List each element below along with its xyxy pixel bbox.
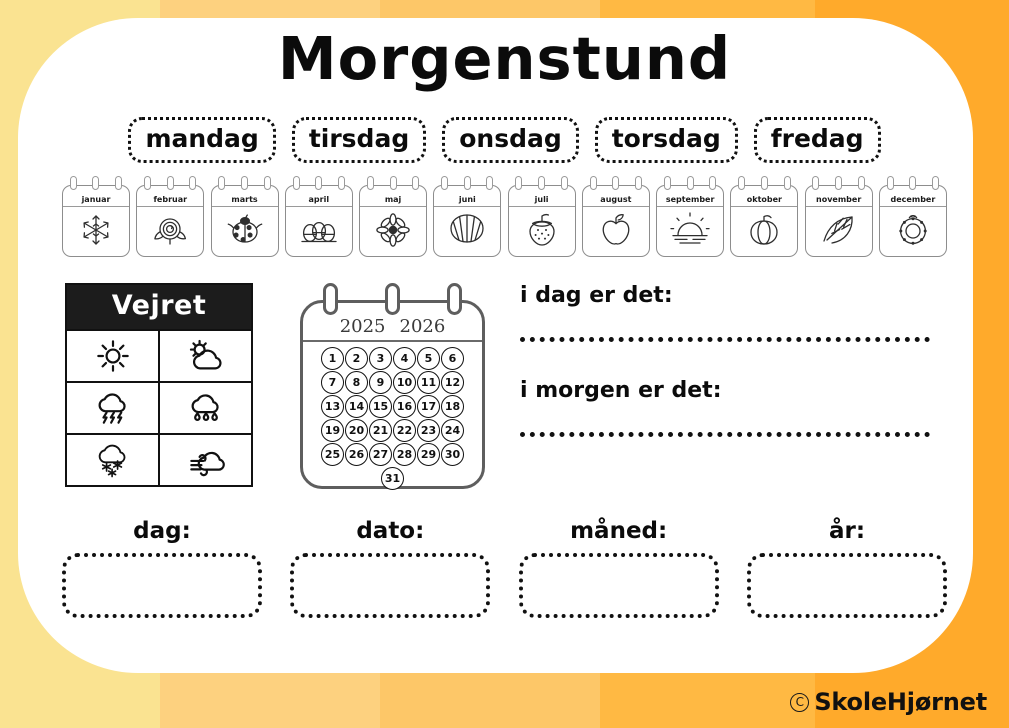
prompt-section: i dag er det:i morgen er det: xyxy=(520,283,930,473)
spiral-ring xyxy=(784,176,791,190)
answer-year-label: år: xyxy=(747,518,947,544)
month-body: august xyxy=(582,185,650,257)
weekday-onsdag[interactable]: onsdag xyxy=(442,117,579,163)
spiral-ring xyxy=(909,176,916,190)
calendar-day-1[interactable]: 1 xyxy=(321,347,344,370)
copyright-icon: C xyxy=(790,693,809,712)
month-card-oktober[interactable]: oktober xyxy=(730,176,798,257)
rose-icon xyxy=(137,207,203,253)
ladybug-icon xyxy=(212,207,278,253)
calendar-rings xyxy=(300,283,485,317)
date-calendar: 20252026 1234567891011121314151617181920… xyxy=(300,283,485,489)
spiral-ring xyxy=(812,176,819,190)
leaf-icon xyxy=(806,207,872,253)
weather-rows xyxy=(67,329,251,485)
spiral-ring xyxy=(144,176,151,190)
spiral-ring xyxy=(390,176,397,190)
answer-date-box[interactable] xyxy=(290,553,490,618)
spiral-ring xyxy=(561,176,568,190)
month-rings xyxy=(879,176,947,192)
month-card-april[interactable]: april xyxy=(285,176,353,257)
month-card-februar[interactable]: februar xyxy=(136,176,204,257)
weather-rainy[interactable] xyxy=(158,383,251,433)
snowflake-icon xyxy=(63,207,129,253)
weather-sunny[interactable] xyxy=(67,331,158,381)
weather-snowy[interactable] xyxy=(67,435,158,485)
prompt-tomorrow-writing-line[interactable] xyxy=(520,432,930,437)
month-card-januar[interactable]: januar xyxy=(62,176,130,257)
month-body: januar xyxy=(62,185,130,257)
calendar-day-4[interactable]: 4 xyxy=(393,347,416,370)
weather-windy[interactable] xyxy=(158,435,251,485)
strawberry-icon xyxy=(509,207,575,253)
brand-name: SkoleHjørnet xyxy=(814,688,987,716)
month-body: marts xyxy=(211,185,279,257)
page-title: Morgenstund xyxy=(0,24,1009,93)
weekday-tirsdag[interactable]: tirsdag xyxy=(292,117,426,163)
calendar-day-18[interactable]: 18 xyxy=(441,395,464,418)
spiral-ring xyxy=(70,176,77,190)
answer-date-group: dato: xyxy=(290,518,490,618)
spiral-ring xyxy=(761,176,768,190)
spiral-ring xyxy=(441,176,448,190)
calendar-day-17[interactable]: 17 xyxy=(417,395,440,418)
calendar-day-26[interactable]: 26 xyxy=(345,443,368,466)
weather-partly-cloudy[interactable] xyxy=(158,331,251,381)
month-rings xyxy=(136,176,204,192)
seashell-icon xyxy=(434,207,500,253)
wreath-icon xyxy=(880,207,946,253)
spiral-ring xyxy=(115,176,122,190)
calendar-year-2026[interactable]: 2026 xyxy=(400,316,446,337)
month-card-september[interactable]: september xyxy=(656,176,724,257)
spiral-ring xyxy=(738,176,745,190)
spiral-ring xyxy=(315,176,322,190)
calendar-day-10[interactable]: 10 xyxy=(393,371,416,394)
month-body: juli xyxy=(508,185,576,257)
month-body: december xyxy=(879,185,947,257)
snow-icon xyxy=(91,440,135,480)
weather-table-header: Vejret xyxy=(67,285,251,329)
month-card-november[interactable]: november xyxy=(805,176,873,257)
month-rings xyxy=(582,176,650,192)
spiral-ring xyxy=(486,176,493,190)
month-body: juni xyxy=(433,185,501,257)
month-card-december[interactable]: december xyxy=(879,176,947,257)
thunderstorm-icon xyxy=(91,388,135,428)
calendar-day-30[interactable]: 30 xyxy=(441,443,464,466)
month-card-august[interactable]: august xyxy=(582,176,650,257)
month-card-maj[interactable]: maj xyxy=(359,176,427,257)
spiral-ring xyxy=(92,176,99,190)
calendar-day-21[interactable]: 21 xyxy=(369,419,392,442)
calendar-day-23[interactable]: 23 xyxy=(417,419,440,442)
weekday-row: mandagtirsdagonsdagtorsdagfredag xyxy=(0,117,1009,163)
spiral-ring xyxy=(664,176,671,190)
spiral-ring xyxy=(590,176,597,190)
spiral-ring xyxy=(835,176,842,190)
calendar-day-9[interactable]: 9 xyxy=(369,371,392,394)
calendar-day-31[interactable]: 31 xyxy=(381,467,404,490)
prompt-tomorrow-label: i morgen er det: xyxy=(520,378,930,403)
calendar-days-grid: 1234567891011121314151617181920212223242… xyxy=(303,342,482,490)
spiral-ring xyxy=(218,176,225,190)
calendar-day-22[interactable]: 22 xyxy=(393,419,416,442)
answer-month-label: måned: xyxy=(519,518,719,544)
answer-boxes-row: dag:dato:måned:år: xyxy=(62,518,947,618)
month-body: maj xyxy=(359,185,427,257)
spiral-ring xyxy=(687,176,694,190)
month-strip: januarfebruarmartsaprilmajjunijuliaugust… xyxy=(62,176,947,257)
answer-month-box[interactable] xyxy=(519,553,719,618)
footer-brand: C SkoleHjørnet xyxy=(790,688,987,716)
month-body: september xyxy=(656,185,724,257)
month-rings xyxy=(508,176,576,192)
spiral-ring xyxy=(189,176,196,190)
flower-icon xyxy=(360,207,426,253)
calendar-day-27[interactable]: 27 xyxy=(369,443,392,466)
weather-row xyxy=(67,381,251,433)
calendar-day-8[interactable]: 8 xyxy=(345,371,368,394)
calendar-day-25[interactable]: 25 xyxy=(321,443,344,466)
answer-day-label: dag: xyxy=(62,518,262,544)
sunset-icon xyxy=(657,207,723,253)
spiral-ring xyxy=(464,176,471,190)
rain-icon xyxy=(184,388,228,428)
month-rings xyxy=(730,176,798,192)
month-body: november xyxy=(805,185,873,257)
month-rings xyxy=(805,176,873,192)
weekday-torsdag[interactable]: torsdag xyxy=(595,117,738,163)
month-rings xyxy=(62,176,130,192)
calendar-day-13[interactable]: 13 xyxy=(321,395,344,418)
calendar-day-5[interactable]: 5 xyxy=(417,347,440,370)
weather-row xyxy=(67,329,251,381)
calendar-day-16[interactable]: 16 xyxy=(393,395,416,418)
answer-year-box[interactable] xyxy=(747,553,947,618)
calendar-day-19[interactable]: 19 xyxy=(321,419,344,442)
calendar-day-28[interactable]: 28 xyxy=(393,443,416,466)
wind-icon xyxy=(184,440,228,480)
spiral-ring xyxy=(367,176,374,190)
calendar-day-20[interactable]: 20 xyxy=(345,419,368,442)
month-rings xyxy=(285,176,353,192)
calendar-ring xyxy=(385,283,400,315)
month-rings xyxy=(211,176,279,192)
calendar-years: 20252026 xyxy=(303,316,482,342)
easter-eggs-icon xyxy=(286,207,352,253)
answer-date-label: dato: xyxy=(290,518,490,544)
answer-day-box[interactable] xyxy=(62,553,262,618)
spiral-ring xyxy=(858,176,865,190)
calendar-day-15[interactable]: 15 xyxy=(369,395,392,418)
weekday-mandag[interactable]: mandag xyxy=(128,117,275,163)
calendar-ring xyxy=(447,283,462,315)
spiral-ring xyxy=(167,176,174,190)
month-rings xyxy=(433,176,501,192)
calendar-body: 20252026 1234567891011121314151617181920… xyxy=(300,300,485,489)
weather-table: Vejret xyxy=(65,283,253,487)
spiral-ring xyxy=(709,176,716,190)
spiral-ring xyxy=(538,176,545,190)
answer-year-group: år: xyxy=(747,518,947,618)
weather-thunderstorm[interactable] xyxy=(67,383,158,433)
pumpkin-icon xyxy=(731,207,797,253)
spiral-ring xyxy=(338,176,345,190)
month-rings xyxy=(656,176,724,192)
spiral-ring xyxy=(515,176,522,190)
spiral-ring xyxy=(635,176,642,190)
partly-cloudy-icon xyxy=(184,336,228,376)
spiral-ring xyxy=(887,176,894,190)
apple-icon xyxy=(583,207,649,253)
calendar-day-29[interactable]: 29 xyxy=(417,443,440,466)
month-card-juli[interactable]: juli xyxy=(508,176,576,257)
prompt-today-label: i dag er det: xyxy=(520,283,930,308)
month-card-marts[interactable]: marts xyxy=(211,176,279,257)
spiral-ring xyxy=(293,176,300,190)
calendar-day-11[interactable]: 11 xyxy=(417,371,440,394)
calendar-day-24[interactable]: 24 xyxy=(441,419,464,442)
calendar-year-2025[interactable]: 2025 xyxy=(340,316,386,337)
spiral-ring xyxy=(932,176,939,190)
month-rings xyxy=(359,176,427,192)
month-card-juni[interactable]: juni xyxy=(433,176,501,257)
calendar-day-14[interactable]: 14 xyxy=(345,395,368,418)
sun-icon xyxy=(91,336,135,376)
spiral-ring xyxy=(241,176,248,190)
prompt-today-writing-line[interactable] xyxy=(520,337,930,342)
calendar-day-12[interactable]: 12 xyxy=(441,371,464,394)
spiral-ring xyxy=(412,176,419,190)
calendar-day-3[interactable]: 3 xyxy=(369,347,392,370)
calendar-day-2[interactable]: 2 xyxy=(345,347,368,370)
month-body: april xyxy=(285,185,353,257)
month-body: oktober xyxy=(730,185,798,257)
answer-month-group: måned: xyxy=(519,518,719,618)
weather-row xyxy=(67,433,251,485)
calendar-day-7[interactable]: 7 xyxy=(321,371,344,394)
weekday-fredag[interactable]: fredag xyxy=(754,117,881,163)
calendar-day-6[interactable]: 6 xyxy=(441,347,464,370)
calendar-ring xyxy=(323,283,338,315)
answer-day-group: dag: xyxy=(62,518,262,618)
spiral-ring xyxy=(264,176,271,190)
spiral-ring xyxy=(612,176,619,190)
month-body: februar xyxy=(136,185,204,257)
